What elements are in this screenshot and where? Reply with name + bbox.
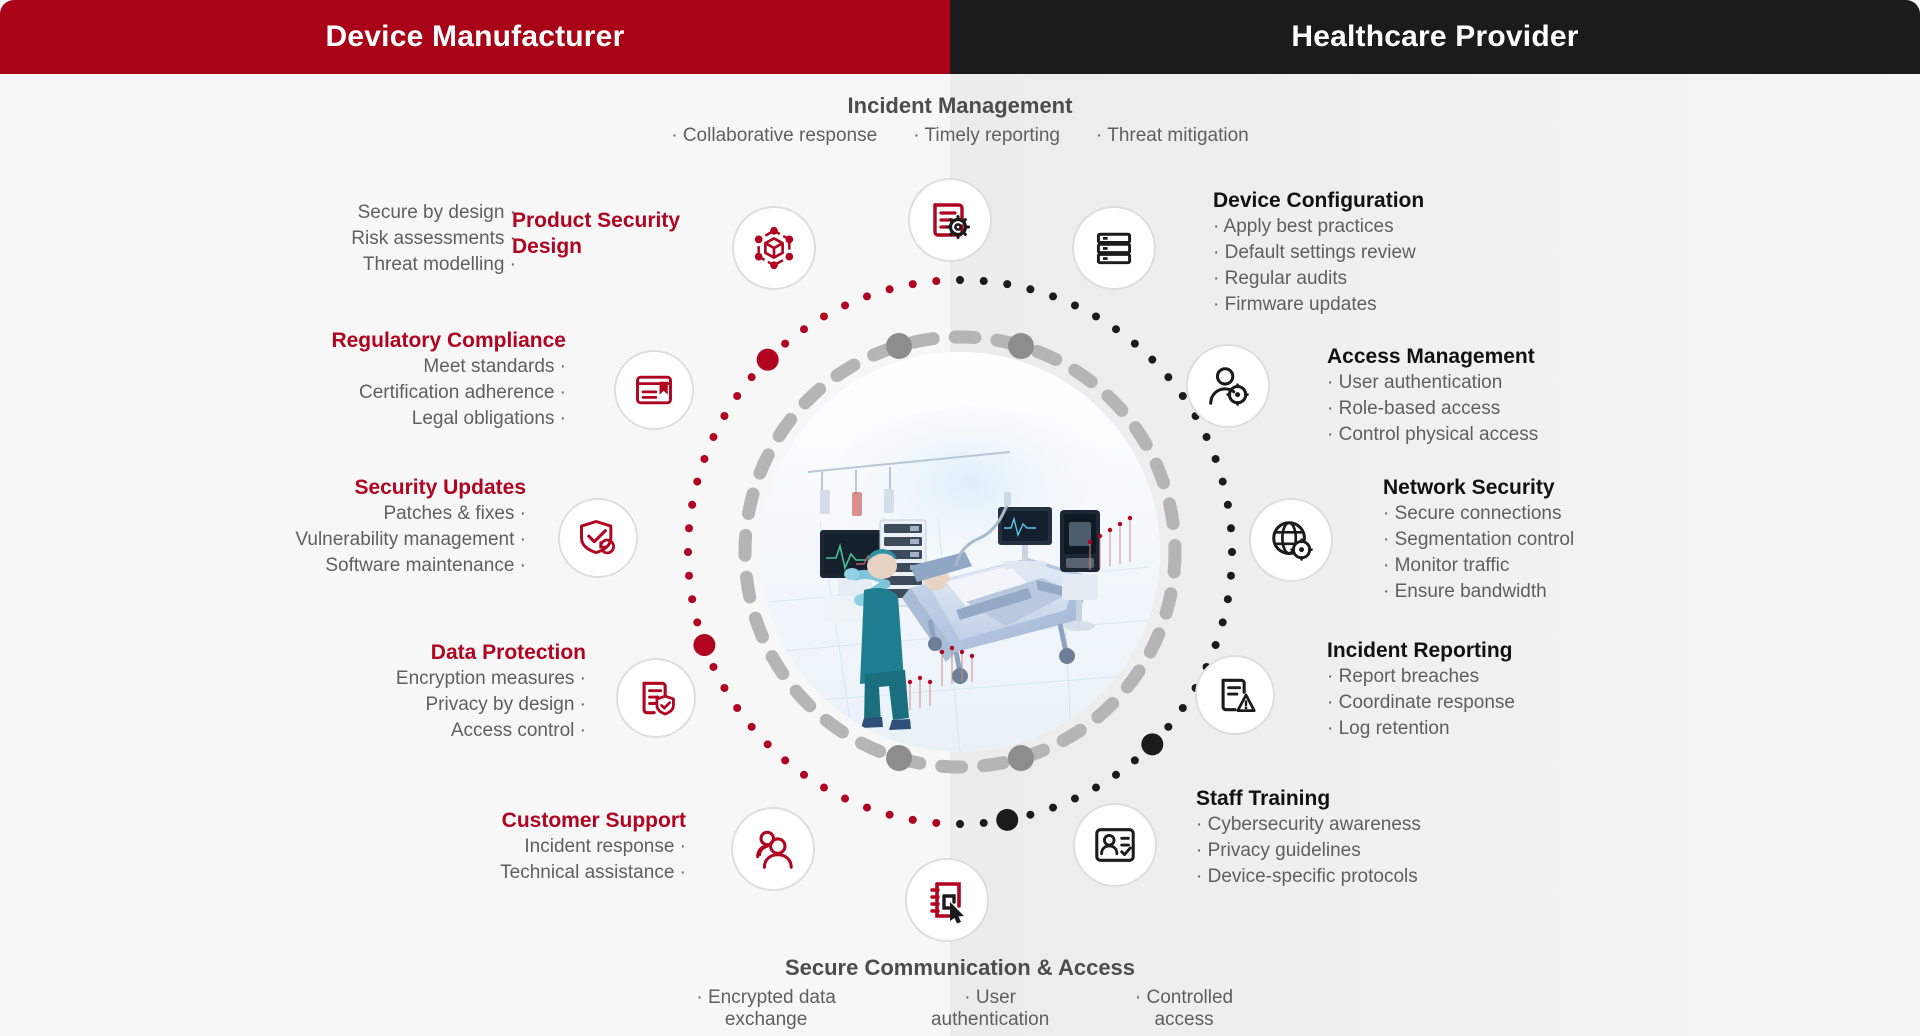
bullet: · Collaborative response <box>671 125 877 147</box>
bullet: · Segmentation control <box>1383 527 1783 553</box>
bullet: Patches & fixes · <box>160 501 526 527</box>
bullet: · Privacy guidelines <box>1196 838 1616 864</box>
bullet: Technical assistance · <box>390 860 686 886</box>
header-left-title: Device Manufacturer <box>326 20 625 54</box>
group-secure-communication: Secure Communication & Access · Encrypte… <box>660 955 1260 1031</box>
icon-globe-gear[interactable] <box>1249 498 1333 582</box>
title-product-security-design: Product Security Design <box>512 208 712 260</box>
bullet: Risk assessments · <box>180 226 516 252</box>
bullet: · Coordinate response <box>1327 690 1727 716</box>
bullet: Certification adherence · <box>220 380 566 406</box>
bullet: Software maintenance · <box>160 553 526 579</box>
bullet: Legal obligations · <box>220 406 566 432</box>
block-product-security-design: Secure by design · Risk assessments · Th… <box>180 200 516 278</box>
bullet: Incident response · <box>390 834 686 860</box>
bullet: · Role-based access <box>1327 396 1727 422</box>
icon-hexagon-node-cube[interactable] <box>732 206 816 290</box>
icon-secure-access-cursor[interactable] <box>905 858 989 942</box>
bullet: · Report breaches <box>1327 664 1727 690</box>
user-access-gear-icon <box>1205 363 1251 409</box>
bullet: · Cybersecurity awareness <box>1196 812 1616 838</box>
bullet: Encryption measures · <box>300 666 586 692</box>
bullet: · Firmware updates <box>1213 292 1613 318</box>
group-incident-management: Incident Management · Collaborative resp… <box>660 93 1260 147</box>
icon-document-gear[interactable] <box>908 178 992 262</box>
bullet: · Timely reporting <box>913 125 1060 147</box>
bullet: · Default settings review <box>1213 240 1613 266</box>
header-healthcare-provider: Healthcare Provider <box>950 0 1920 74</box>
support-people-icon <box>750 826 796 872</box>
central-ring-assembly <box>676 268 1244 836</box>
block-data-protection: Data Protection Encryption measures · Pr… <box>300 640 586 744</box>
icon-report-alert[interactable] <box>1195 655 1275 735</box>
secure-communication-bullets: · Encrypted data exchange · User authent… <box>660 987 1260 1031</box>
training-badge-person-icon <box>1092 822 1138 868</box>
hexagon-node-cube-icon <box>751 225 797 271</box>
bullet: · User authentication <box>1327 370 1727 396</box>
block-security-updates: Security Updates Patches & fixes · Vulne… <box>160 475 526 579</box>
bullet: Meet standards · <box>220 354 566 380</box>
icon-server-stack[interactable] <box>1072 206 1156 290</box>
block-customer-support: Customer Support Incident response · Tec… <box>390 808 686 886</box>
server-stack-icon <box>1092 226 1136 270</box>
bullet: Threat modelling · <box>180 252 516 278</box>
icon-training-badge-person[interactable] <box>1073 803 1157 887</box>
icon-certificate-document[interactable] <box>614 350 694 430</box>
shield-check-refresh-icon <box>576 516 620 560</box>
document-gear-icon <box>926 196 974 244</box>
bullet: · User authentication <box>908 987 1072 1031</box>
bullet: Vulnerability management · <box>160 527 526 553</box>
block-staff-training: Staff Training · Cybersecurity awareness… <box>1196 786 1616 890</box>
icon-user-access-gear[interactable] <box>1186 344 1270 428</box>
icon-shield-check-refresh[interactable] <box>558 498 638 578</box>
bullet: · Log retention <box>1327 716 1727 742</box>
secure-communication-title: Secure Communication & Access <box>660 955 1260 981</box>
incident-management-bullets: · Collaborative response · Timely report… <box>660 125 1260 147</box>
header-device-manufacturer: Device Manufacturer <box>0 0 950 74</box>
bullet: Secure by design · <box>180 200 516 226</box>
incident-management-title: Incident Management <box>660 93 1260 119</box>
bullet: · Monitor traffic <box>1383 553 1783 579</box>
block-network-security: Network Security · Secure connections · … <box>1383 475 1783 605</box>
block-device-configuration: Device Configuration · Apply best practi… <box>1213 188 1613 318</box>
bullet: · Control physical access <box>1327 422 1727 448</box>
bullet: · Controlled access <box>1108 987 1260 1031</box>
bullet: · Threat mitigation <box>1096 125 1249 147</box>
bullet: · Regular audits <box>1213 266 1613 292</box>
block-access-management: Access Management · User authentication … <box>1327 344 1727 448</box>
header-right-title: Healthcare Provider <box>1291 20 1578 54</box>
secure-access-cursor-icon <box>923 876 971 924</box>
document-shield-check-icon <box>634 676 678 720</box>
certificate-document-icon <box>632 368 676 412</box>
report-alert-icon <box>1213 673 1257 717</box>
bullet: Privacy by design · <box>300 692 586 718</box>
bullet: · Apply best practices <box>1213 214 1613 240</box>
icon-support-people[interactable] <box>731 807 815 891</box>
bullet: Access control · <box>300 718 586 744</box>
infographic-canvas: Device Manufacturer Healthcare Provider <box>0 0 1920 1036</box>
icon-document-shield-check[interactable] <box>616 658 696 738</box>
block-incident-reporting: Incident Reporting · Report breaches · C… <box>1327 638 1727 742</box>
bullet: · Ensure bandwidth <box>1383 579 1783 605</box>
bullet: · Encrypted data exchange <box>660 987 872 1031</box>
bullet: · Secure connections <box>1383 501 1783 527</box>
center-photo <box>760 352 1160 752</box>
block-regulatory-compliance: Regulatory Compliance Meet standards · C… <box>220 328 566 432</box>
hospital-scene-illustration <box>760 352 1160 752</box>
bullet: · Device-specific protocols <box>1196 864 1616 890</box>
globe-gear-icon <box>1268 517 1314 563</box>
